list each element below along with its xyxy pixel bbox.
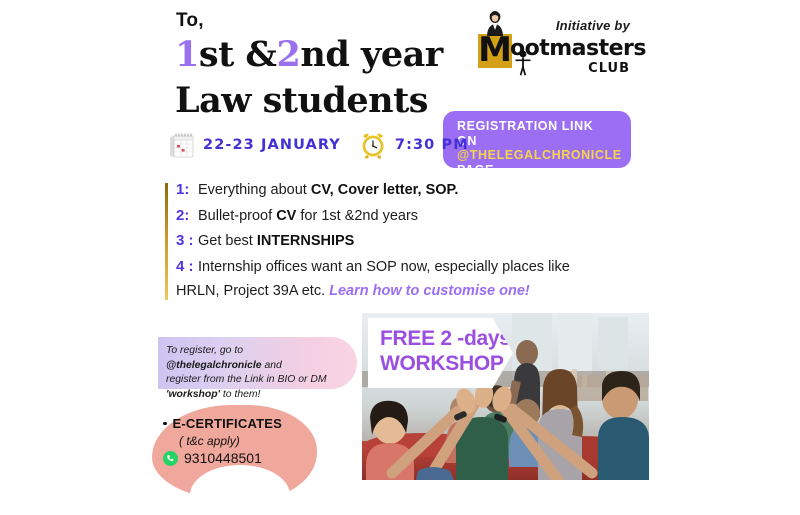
list-item-text: Everything about CV, Cover letter, SOP. [198,181,646,200]
list-item-text-bold: CV [276,208,296,224]
bullet-icon [163,422,167,426]
registration-line-1: REGISTRATION LINK [457,119,631,134]
headline-numeral-2: 2 [277,34,301,75]
calendar-icon [168,132,195,159]
list-item-number: 2: [176,206,198,225]
event-date: 22-23 JANUARY [203,137,341,153]
free-workshop-banner: FREE 2 -days WORKSHOP [368,318,513,388]
alarm-clock-icon [359,131,387,159]
registration-handle: @THELEGALCHRONICLE [457,148,622,162]
list-item: 1: Everything about CV, Cover letter, SO… [176,180,646,200]
note-line-3-post: to them! [220,389,260,400]
list-item-text-bold: CV, Cover letter, SOP. [311,182,459,198]
banner-line-2: WORKSHOP [380,351,513,376]
list-item: 3 : Get best INTERNSHIPS [176,231,646,251]
event-time: 7:30 PM [395,137,469,153]
headline-line-1: 1st &2nd year [175,34,443,75]
certificates-title: E-CERTIFICATES [163,416,343,431]
certificates-terms: ( t&c apply) [179,434,343,448]
note-handle: @thelegalchronicle [166,360,262,371]
certificates-block: E-CERTIFICATES ( t&c apply) 9310448501 [163,416,343,466]
headline-suffix-st: st [199,34,246,75]
list-item-text-pre: Get best [198,233,257,249]
list-item: 2: Bullet-proof CV for 1st &2nd years [176,206,646,226]
note-line-1-pre: To register, go to [166,345,243,356]
whatsapp-phone-number: 9310448501 [184,450,262,466]
flyer-canvas: To, 1st &2nd year Law students Initiativ… [0,0,800,480]
stick-figure-icon [512,50,534,76]
logo-initiative-label: Initiative by [556,18,630,33]
list-item-cta: Learn how to customise one! [329,283,530,299]
benefits-list: 1: Everything about CV, Cover letter, SO… [176,180,646,301]
headline-ampersand: & [245,34,276,75]
note-line-1: To register, go to @thelegalchronicle an… [166,344,341,373]
register-instructions-note: To register, go to @thelegalchronicle an… [158,337,357,389]
to-label: To, [176,10,204,32]
mootmasters-logo: Initiative by M ootmasters CLUB [472,4,652,78]
note-line-2: register from the Link in BIO or DM [166,373,341,388]
list-accent-bar [165,183,168,300]
registration-link-box[interactable]: REGISTRATION LINK ON @THELEGALCHRONICLE … [443,111,631,168]
list-item-text: Bullet-proof CV for 1st &2nd years [198,207,646,226]
list-item-continuation-plain: HRLN, Project 39A etc. [176,283,329,299]
whatsapp-contact-row[interactable]: 9310448501 [163,450,343,466]
note-line-3: 'workshop' to them! [166,388,341,403]
banner-line-1: FREE 2 -days [380,326,513,351]
logo-club-label: CLUB [588,61,630,76]
note-keyword: 'workshop' [166,389,220,400]
list-item-text-pre: Everything about [198,182,311,198]
list-item-number: 3 : [176,231,198,250]
list-item: 4 : Internship offices want an SOP now, … [176,257,646,277]
list-item-number: 1: [176,180,198,199]
headline-line-2: Law students [175,80,428,121]
certificates-title-text: E-CERTIFICATES [173,416,282,431]
schedule-row: 22-23 JANUARY 7:30 PM [168,128,469,162]
headline-suffix-nd-year: nd year [300,34,442,75]
list-item-continuation: HRLN, Project 39A etc. Learn how to cust… [176,282,646,301]
list-item-text-post: for 1st &2nd years [296,208,418,224]
lawyer-podium-icon [480,10,510,36]
headline-numeral-1: 1 [175,34,199,75]
logo-m-letter: M [478,32,512,68]
list-item-text-bold: INTERNSHIPS [257,233,355,249]
list-item-text: Internship offices want an SOP now, espe… [198,258,646,277]
whatsapp-icon [163,451,178,466]
registration-line-2: ON @THELEGALCHRONICLE [457,134,631,163]
list-item-text-pre: Bullet-proof [198,208,276,224]
list-item-number: 4 : [176,257,198,276]
note-line-1-post: and [262,360,282,371]
list-item-text: Get best INTERNSHIPS [198,232,646,251]
registration-line-3: PAGE [457,163,631,178]
